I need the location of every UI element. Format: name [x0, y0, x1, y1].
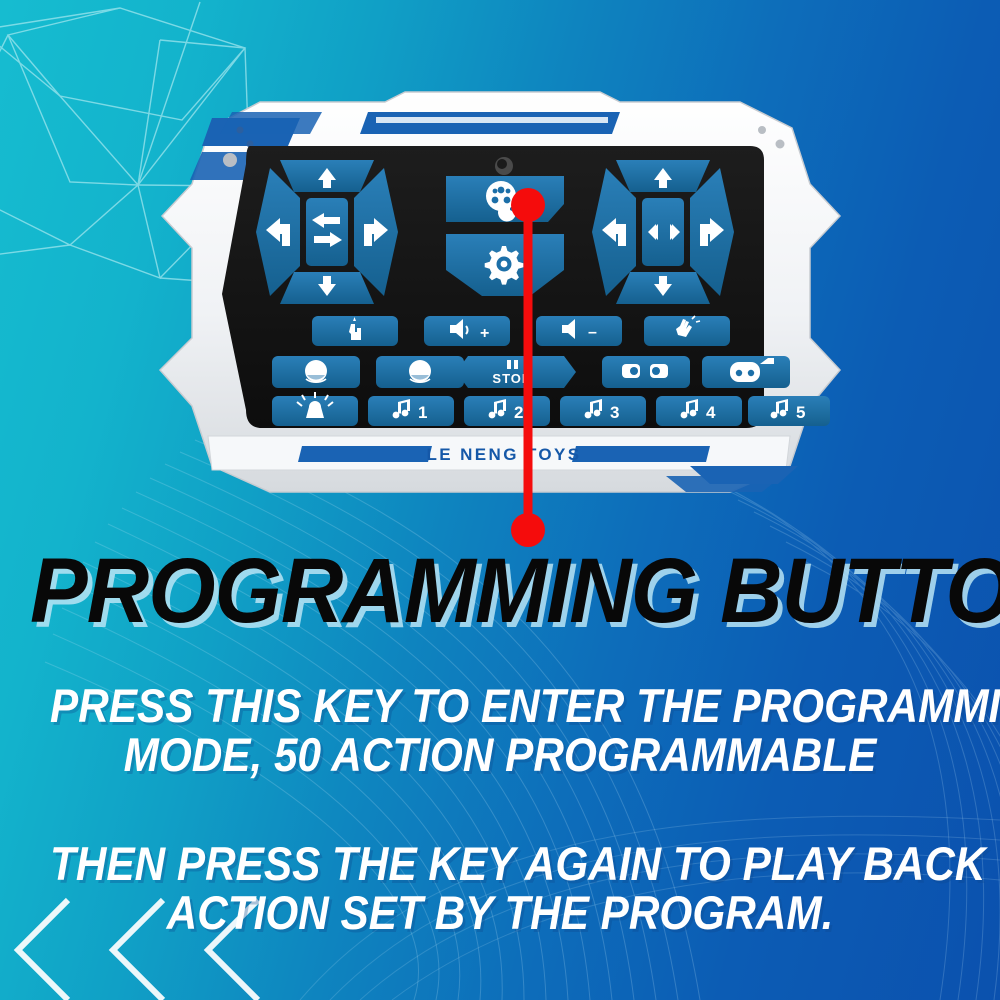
- music-5-button: [748, 396, 830, 426]
- eyes-button: [602, 356, 690, 388]
- volume-down-label: –: [588, 324, 597, 341]
- right-dpad[interactable]: [592, 160, 734, 304]
- music-1-button: [368, 396, 454, 426]
- music-2-label: 2: [514, 403, 523, 422]
- center-cluster: [446, 176, 564, 296]
- music-2-button: [464, 396, 550, 426]
- music-3-label: 3: [610, 403, 619, 422]
- description-paragraph-2: THEN PRESS THE KEY AGAIN TO PLAY BACK TH…: [50, 840, 950, 938]
- page-title: PROGRAMMING BUTTON: [30, 548, 970, 635]
- stop-label: STOP: [492, 371, 531, 386]
- music-3-button: [560, 396, 646, 426]
- poster-canvas: LE NENG TOYS: [0, 0, 1000, 1000]
- action-row[interactable]: STOP: [272, 356, 790, 388]
- shell-screw: [223, 153, 237, 167]
- product-image-remote-controller: LE NENG TOYS: [150, 88, 850, 508]
- music-1-label: 1: [418, 403, 427, 422]
- volume-down-button: [536, 316, 622, 346]
- dpad-center-button: [306, 198, 348, 266]
- description-line: PRESS THIS KEY TO ENTER THE PROGRAMMING: [50, 682, 950, 731]
- left-dpad[interactable]: [256, 160, 398, 304]
- description-paragraph-1: PRESS THIS KEY TO ENTER THE PROGRAMMING …: [50, 682, 950, 780]
- music-5-label: 5: [796, 403, 805, 422]
- description-line: THEN PRESS THE KEY AGAIN TO PLAY BACK TH…: [50, 840, 950, 889]
- music-4-label: 4: [706, 403, 716, 422]
- description-line: ACTION SET BY THE PROGRAM.: [50, 889, 950, 938]
- brand-text: LE NENG TOYS: [426, 445, 581, 464]
- music-4-button: [656, 396, 742, 426]
- shell-decal-top: [360, 112, 620, 134]
- description-line: MODE, 50 ACTION PROGRAMMABLE: [50, 731, 950, 780]
- volume-up-label: +: [480, 325, 489, 342]
